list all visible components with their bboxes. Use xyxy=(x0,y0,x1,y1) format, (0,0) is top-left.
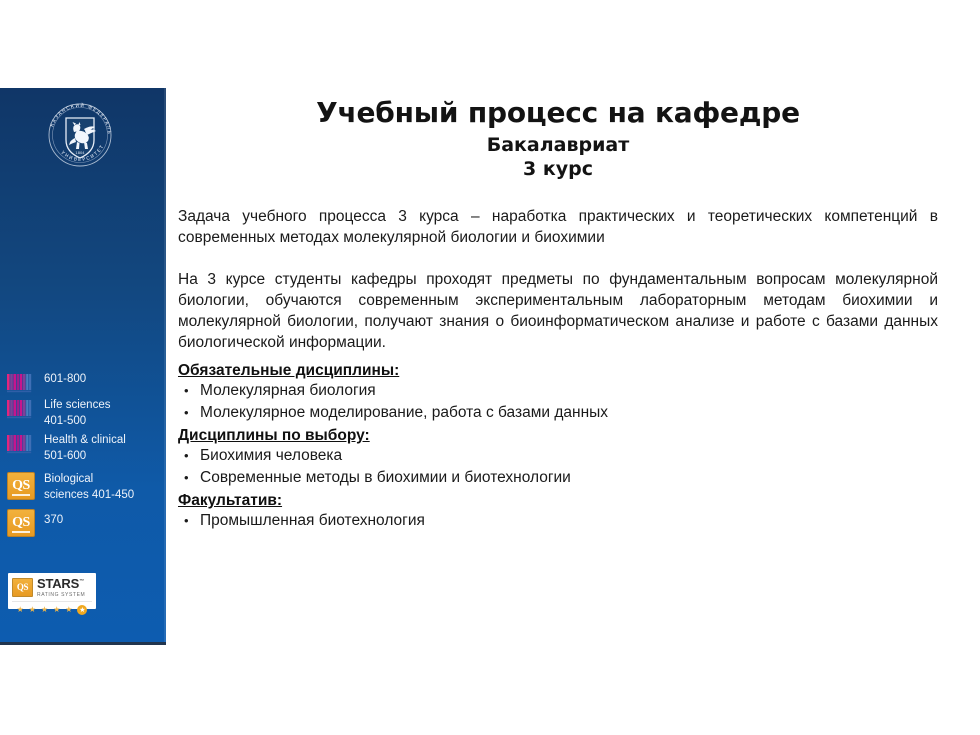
qs-logo-underline xyxy=(12,531,30,533)
detail-paragraph: На 3 курсе студенты кафедры проходят пре… xyxy=(178,269,938,353)
list-item: Молекулярное моделирование, работа с баз… xyxy=(178,402,938,424)
qs-stars-title-text: STARS xyxy=(37,576,79,591)
svg-text:1804: 1804 xyxy=(75,151,85,155)
page-subtitle-year: 3 курс xyxy=(178,157,938,181)
sidebar-panel: КАЗАНСКИЙ ФЕДЕРАЛЬНЫЙ УНИВЕРСИТЕТ xyxy=(0,88,166,645)
kfu-emblem-icon: КАЗАНСКИЙ ФЕДЕРАЛЬНЫЙ УНИВЕРСИТЕТ xyxy=(41,96,119,174)
qs-logo-icon: QS xyxy=(7,509,35,537)
section-heading-elective: Дисциплины по выбору: xyxy=(178,427,938,445)
star-icon: ★ xyxy=(29,606,36,614)
list-item: Биохимия человека xyxy=(178,445,938,467)
ranking-row-the-health-clinical: Health & clinical 501-600 xyxy=(0,432,166,464)
page-title: Учебный процесс на кафедре xyxy=(178,96,938,130)
section-heading-facultative: Факультатив: xyxy=(178,492,938,510)
slide-content: Учебный процесс на кафедре Бакалавриат 3… xyxy=(178,96,938,532)
qs-stars-header: QS STARS™ RATING SYSTEM xyxy=(12,576,92,598)
intro-paragraph: Задача учебного процесса 3 курса – нараб… xyxy=(178,206,938,248)
qs-logo-underline xyxy=(12,494,30,496)
ranking-row-qs-overall: QS 370 xyxy=(0,508,166,537)
ranking-label: Health & clinical 501-600 xyxy=(44,432,126,464)
slide-canvas: КАЗАНСКИЙ ФЕДЕРАЛЬНЫЙ УНИВЕРСИТЕТ xyxy=(0,0,980,735)
sidebar-bottom-edge xyxy=(0,642,166,645)
qs-stars-wordmark: STARS™ RATING SYSTEM xyxy=(37,576,85,598)
star-icon: ★ xyxy=(17,606,24,614)
qs-stars-title: STARS™ xyxy=(37,576,84,591)
list-item: Современные методы в биохимии и биотехно… xyxy=(178,467,938,489)
sidebar-right-edge xyxy=(164,88,166,645)
list-item: Молекулярная биология xyxy=(178,380,938,402)
ranking-row-qs-biological-sciences: QS Biological sciences 401-450 xyxy=(0,471,166,503)
ranking-row-the-overall: 601-800 xyxy=(0,371,166,394)
ranking-row-the-life-sciences: Life sciences 401-500 xyxy=(0,397,166,429)
elective-disciplines-list: Биохимия человека Современные методы в б… xyxy=(178,445,938,489)
the-logo-icon xyxy=(7,434,35,455)
ranking-label: 601-800 xyxy=(44,371,86,387)
page-subtitle-degree: Бакалавриат xyxy=(178,133,938,157)
mandatory-disciplines-list: Молекулярная биология Молекулярное модел… xyxy=(178,380,938,424)
qs-stars-trademark: ™ xyxy=(79,579,84,585)
ranking-label: Biological sciences 401-450 xyxy=(44,471,134,503)
qs-stars-mark-icon: QS xyxy=(12,578,33,597)
star-icon: ★ xyxy=(53,606,60,614)
the-logo-icon xyxy=(7,399,35,420)
the-logo-icon xyxy=(7,373,35,394)
qs-stars-rating-row: ★ ★ ★ ★ ★ ★ xyxy=(12,601,92,615)
qs-stars-mark-text: QS xyxy=(13,579,32,596)
star-icon: ★ xyxy=(65,606,72,614)
star-icon: ★ xyxy=(41,606,48,614)
qs-stars-badge: QS STARS™ RATING SYSTEM ★ ★ ★ ★ ★ ★ xyxy=(8,573,96,609)
qs-logo-icon: QS xyxy=(7,472,35,500)
ranking-label: 370 xyxy=(44,512,63,528)
qs-stars-subtitle: RATING SYSTEM xyxy=(37,593,85,598)
facultative-disciplines-list: Промышленная биотехнология xyxy=(178,510,938,532)
section-heading-mandatory: Обязательные дисциплины: xyxy=(178,362,938,380)
star-badge-circle-icon: ★ xyxy=(77,605,87,615)
rankings-list: 601-800 Life scienc xyxy=(0,371,166,540)
ranking-label: Life sciences 401-500 xyxy=(44,397,110,429)
list-item: Промышленная биотехнология xyxy=(178,510,938,532)
